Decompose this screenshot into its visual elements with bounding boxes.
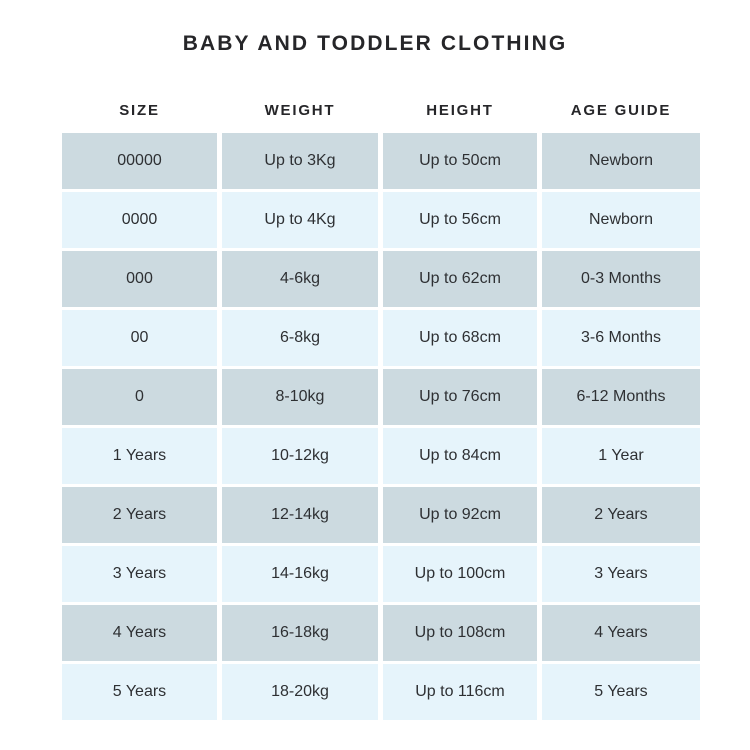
- cell-weight: Up to 4Kg: [222, 192, 378, 248]
- cell-size: 0000: [62, 192, 217, 248]
- cell-age-guide: 4 Years: [542, 605, 700, 661]
- cell-weight: 10-12kg: [222, 428, 378, 484]
- cell-height: Up to 56cm: [383, 192, 537, 248]
- cell-size: 4 Years: [62, 605, 217, 661]
- table-row: 3 Years 14-16kg Up to 100cm 3 Years: [62, 546, 690, 602]
- cell-age-guide: 0-3 Months: [542, 251, 700, 307]
- cell-size: 000: [62, 251, 217, 307]
- cell-age-guide: 3-6 Months: [542, 310, 700, 366]
- table-row: 00000 Up to 3Kg Up to 50cm Newborn: [62, 133, 690, 189]
- cell-height: Up to 50cm: [383, 133, 537, 189]
- cell-size: 0: [62, 369, 217, 425]
- cell-weight: 14-16kg: [222, 546, 378, 602]
- cell-weight: 6-8kg: [222, 310, 378, 366]
- table-row: 2 Years 12-14kg Up to 92cm 2 Years: [62, 487, 690, 543]
- cell-weight: 8-10kg: [222, 369, 378, 425]
- table-row: 4 Years 16-18kg Up to 108cm 4 Years: [62, 605, 690, 661]
- table-row: 00 6-8kg Up to 68cm 3-6 Months: [62, 310, 690, 366]
- cell-height: Up to 84cm: [383, 428, 537, 484]
- column-header-height: HEIGHT: [383, 92, 537, 130]
- cell-weight: 4-6kg: [222, 251, 378, 307]
- table-row: 5 Years 18-20kg Up to 116cm 5 Years: [62, 664, 690, 720]
- table-row: 0000 Up to 4Kg Up to 56cm Newborn: [62, 192, 690, 248]
- cell-height: Up to 92cm: [383, 487, 537, 543]
- cell-age-guide: 6-12 Months: [542, 369, 700, 425]
- cell-size: 00: [62, 310, 217, 366]
- cell-height: Up to 116cm: [383, 664, 537, 720]
- column-header-age-guide: AGE GUIDE: [542, 92, 700, 130]
- cell-size: 3 Years: [62, 546, 217, 602]
- cell-height: Up to 62cm: [383, 251, 537, 307]
- table-header-row: SIZE WEIGHT HEIGHT AGE GUIDE: [62, 92, 690, 130]
- column-header-weight: WEIGHT: [222, 92, 378, 130]
- cell-age-guide: Newborn: [542, 133, 700, 189]
- cell-weight: Up to 3Kg: [222, 133, 378, 189]
- cell-age-guide: Newborn: [542, 192, 700, 248]
- table-row: 000 4-6kg Up to 62cm 0-3 Months: [62, 251, 690, 307]
- cell-height: Up to 108cm: [383, 605, 537, 661]
- cell-height: Up to 68cm: [383, 310, 537, 366]
- cell-size: 2 Years: [62, 487, 217, 543]
- page-title: BABY AND TODDLER CLOTHING: [0, 30, 750, 58]
- cell-age-guide: 5 Years: [542, 664, 700, 720]
- cell-weight: 16-18kg: [222, 605, 378, 661]
- cell-size: 1 Years: [62, 428, 217, 484]
- size-chart-table: SIZE WEIGHT HEIGHT AGE GUIDE 00000 Up to…: [62, 92, 690, 720]
- cell-height: Up to 76cm: [383, 369, 537, 425]
- cell-age-guide: 3 Years: [542, 546, 700, 602]
- size-chart-page: BABY AND TODDLER CLOTHING SIZE WEIGHT HE…: [0, 0, 750, 750]
- cell-age-guide: 1 Year: [542, 428, 700, 484]
- cell-age-guide: 2 Years: [542, 487, 700, 543]
- cell-size: 5 Years: [62, 664, 217, 720]
- cell-size: 00000: [62, 133, 217, 189]
- cell-weight: 12-14kg: [222, 487, 378, 543]
- table-row: 0 8-10kg Up to 76cm 6-12 Months: [62, 369, 690, 425]
- cell-weight: 18-20kg: [222, 664, 378, 720]
- column-header-size: SIZE: [62, 92, 217, 130]
- cell-height: Up to 100cm: [383, 546, 537, 602]
- table-row: 1 Years 10-12kg Up to 84cm 1 Year: [62, 428, 690, 484]
